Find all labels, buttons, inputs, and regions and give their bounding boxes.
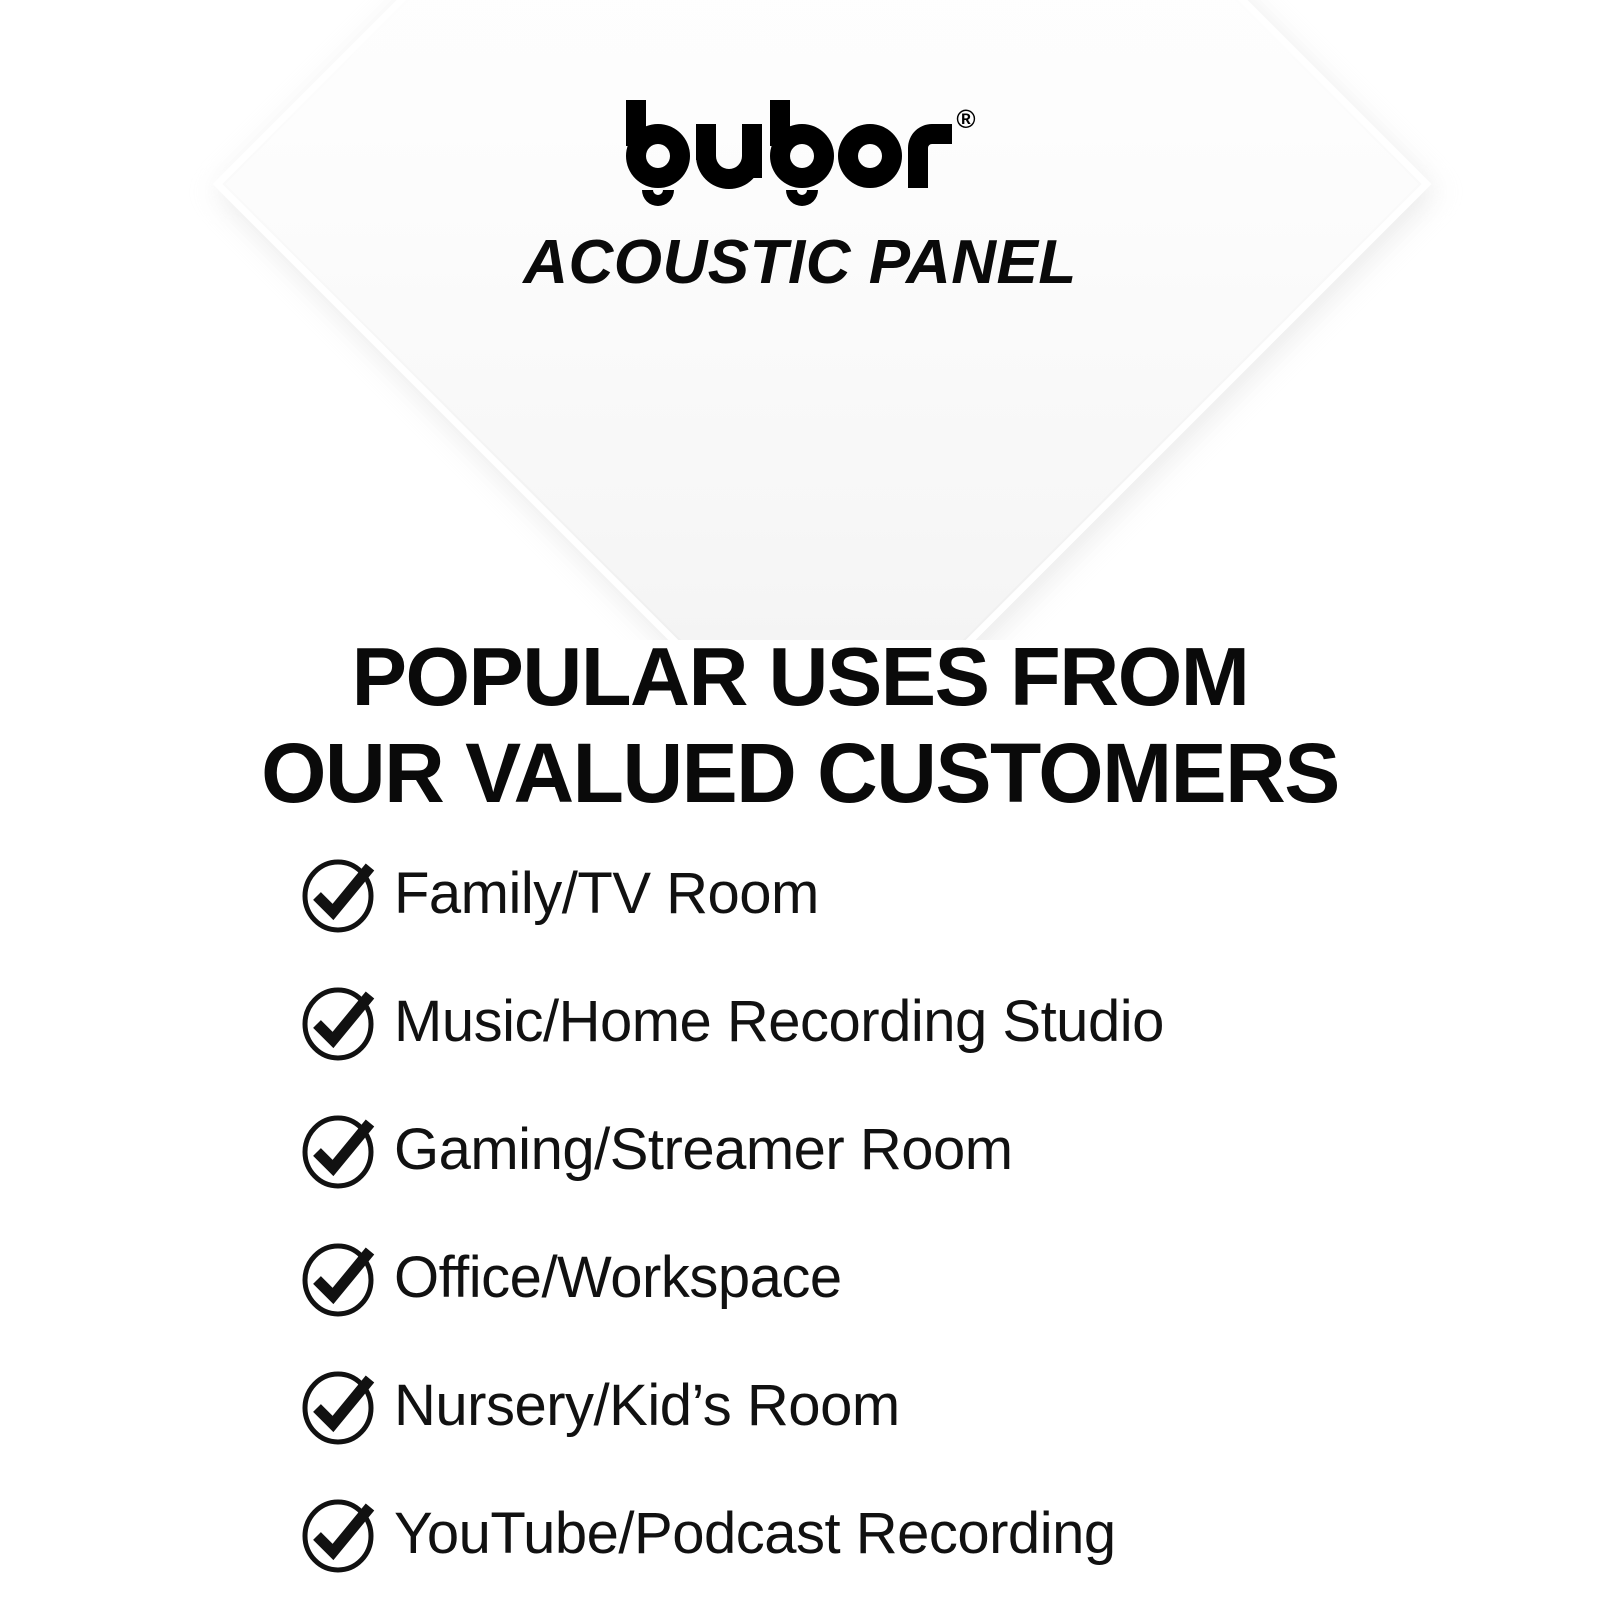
- acoustic-panel-illustration: [0, 0, 1600, 640]
- bubos-logo-icon: [624, 100, 954, 220]
- panel-bevel-edge: [212, 0, 1431, 640]
- brand-subtitle: ACOUSTIC PANEL: [0, 232, 1600, 294]
- list-item: Nursery/Kid’s Room: [300, 1368, 1550, 1443]
- page-title-line-2: OUR VALUED CUSTOMERS: [0, 725, 1600, 822]
- page-title: POPULAR USES FROM OUR VALUED CUSTOMERS: [0, 628, 1600, 822]
- list-item-label: YouTube/Podcast Recording: [394, 1504, 1116, 1564]
- list-item: Family/TV Room: [300, 856, 1550, 931]
- circle-check-icon: [300, 1367, 378, 1445]
- list-item-label: Family/TV Room: [394, 864, 819, 924]
- list-item-label: Office/Workspace: [394, 1248, 842, 1308]
- list-item: Music/Home Recording Studio: [300, 984, 1550, 1059]
- page-title-line-1: POPULAR USES FROM: [0, 628, 1600, 725]
- circle-check-icon: [300, 1111, 378, 1189]
- list-item-label: Gaming/Streamer Room: [394, 1120, 1013, 1180]
- circle-check-icon: [300, 983, 378, 1061]
- logo-wordmark-row: ®: [0, 100, 1600, 220]
- circle-check-icon: [300, 855, 378, 933]
- brand-logo-block: ® ACOUSTIC PANEL: [0, 100, 1600, 294]
- list-item-label: Nursery/Kid’s Room: [394, 1376, 900, 1436]
- list-item: Office/Workspace: [300, 1240, 1550, 1315]
- circle-check-icon: [300, 1495, 378, 1573]
- list-item-label: Music/Home Recording Studio: [394, 992, 1164, 1052]
- list-item: YouTube/Podcast Recording: [300, 1496, 1550, 1571]
- list-item: Gaming/Streamer Room: [300, 1112, 1550, 1187]
- circle-check-icon: [300, 1239, 378, 1317]
- panel-surface: [212, 0, 1431, 640]
- popular-uses-list: Family/TV Room Music/Home Recording Stud…: [300, 856, 1550, 1571]
- registered-trademark-icon: ®: [956, 106, 975, 132]
